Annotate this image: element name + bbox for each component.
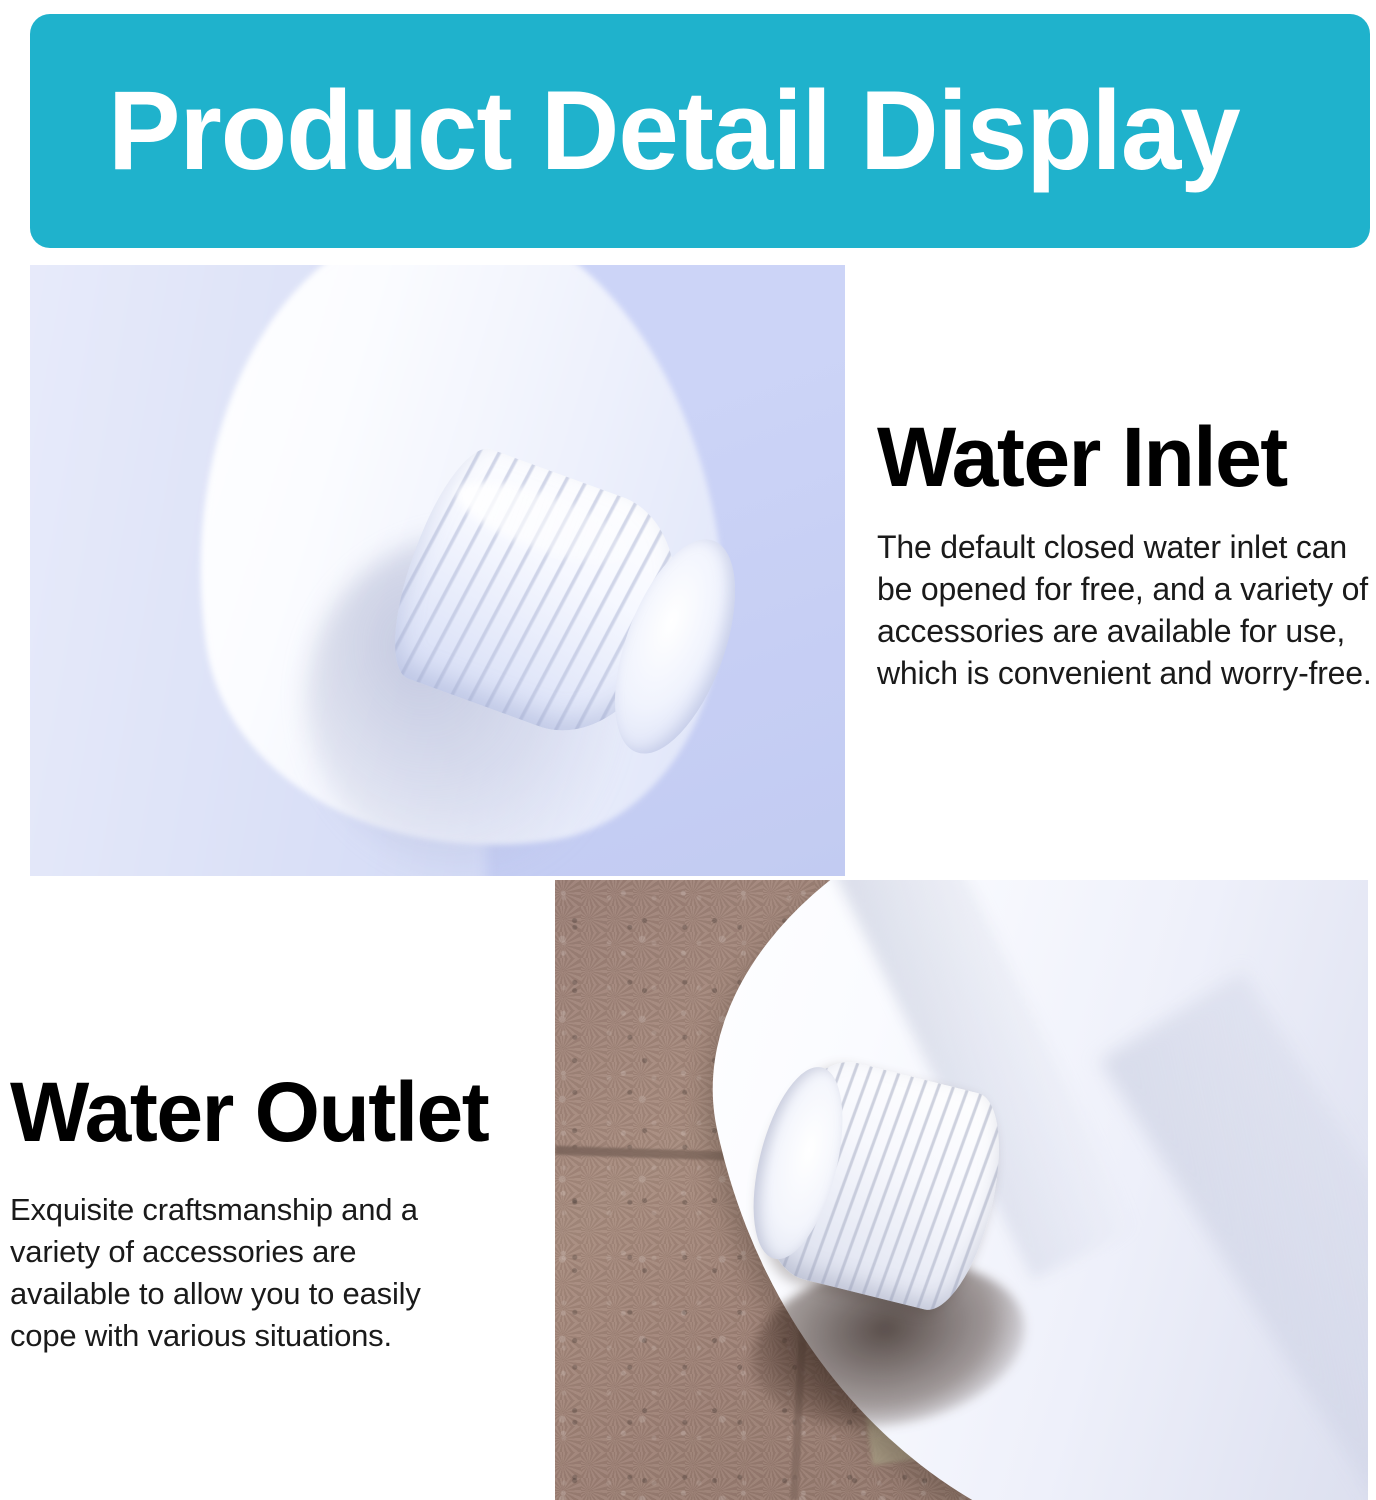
- page-title: Product Detail Display: [108, 72, 1240, 190]
- water-outlet-photo: [555, 880, 1368, 1500]
- header-banner: Product Detail Display: [30, 14, 1370, 248]
- water-inlet-description: The default closed water inlet can be op…: [877, 526, 1376, 694]
- outlet-container-crease-secondary: [1100, 971, 1368, 1500]
- water-outlet-description: Exquisite craftsmanship and a variety of…: [10, 1189, 480, 1357]
- water-outlet-text-block: Water Outlet Exquisite craftsmanship and…: [10, 1073, 530, 1357]
- water-inlet-text-block: Water Inlet The default closed water inl…: [877, 418, 1376, 694]
- product-detail-page: Product Detail Display Water Inlet The d…: [0, 0, 1376, 1500]
- water-inlet-heading: Water Inlet: [877, 418, 1376, 498]
- water-outlet-heading: Water Outlet: [10, 1073, 530, 1153]
- water-inlet-photo: [30, 265, 845, 876]
